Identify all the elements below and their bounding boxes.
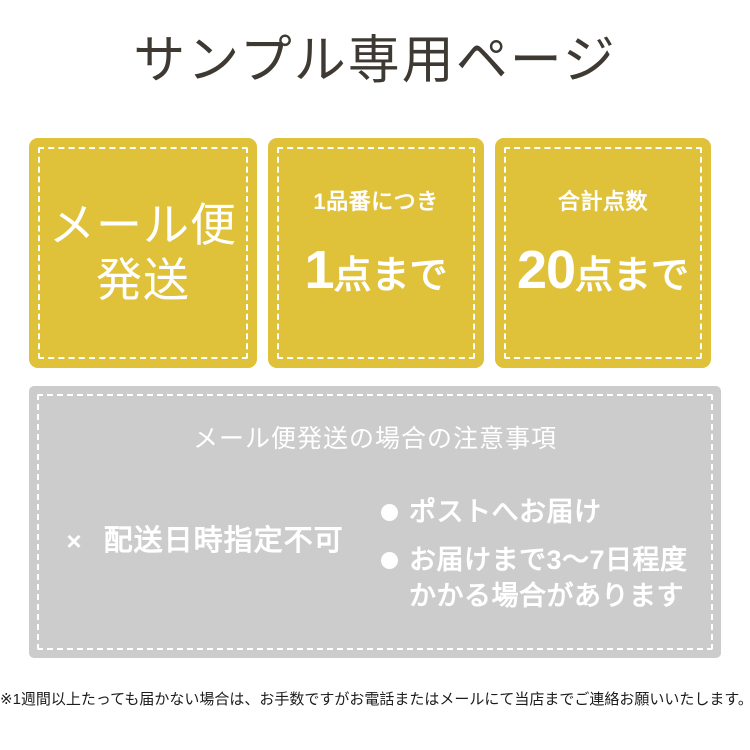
list-item: ポストへお届け [381, 494, 721, 530]
notice-panel: メール便発送の場合の注意事項 × 配送日時指定不可 ポストへお届け お届けまで3… [29, 386, 721, 658]
page-title: サンプル専用ページ [0, 30, 750, 92]
sample-info-page: サンプル専用ページ メール便 発送 1品番につき 1 点まで 合計点数 20 点… [0, 0, 750, 750]
card-mail-shipping-line2: 発送 [49, 253, 237, 308]
notice-bullet-list: ポストへお届け お届けまで3〜7日程度 かかる場合があります [381, 486, 721, 614]
notice-bullet-1-text: ポストへお届け [409, 494, 602, 530]
card-per-item-heading: 1品番につき [313, 189, 438, 215]
card-total-heading: 合計点数 [558, 189, 648, 215]
footnote: ※1週間以上たっても届かない場合は、お手数ですがお電話またはメールにて当店までご… [0, 690, 750, 710]
card-mail-shipping: メール便 発送 [29, 138, 257, 368]
notice-bullet-2-line1: お届けまで3〜7日程度 [409, 545, 688, 575]
card-mail-shipping-text: メール便 発送 [49, 198, 237, 308]
notice-bullet-1-line1: ポストへお届け [409, 497, 602, 527]
card-total-number: 20 [517, 243, 575, 297]
list-item: お届けまで3〜7日程度 かかる場合があります [381, 542, 721, 614]
card-per-item-value: 1 点まで [304, 243, 447, 303]
cross-icon: × [66, 526, 82, 556]
info-card-row: メール便 発送 1品番につき 1 点まで 合計点数 20 点まで [29, 138, 721, 368]
notice-bullet-2-line2: かかる場合があります [409, 578, 688, 614]
card-mail-shipping-line1: メール便 [49, 199, 237, 251]
card-total-value: 20 点まで [517, 243, 689, 303]
notice-no-date-designation-label: 配送日時指定不可 [104, 525, 344, 557]
bullet-dot-icon [381, 504, 398, 521]
card-per-item-limit: 1品番につき 1 点まで [268, 138, 484, 368]
notice-title: メール便発送の場合の注意事項 [29, 424, 721, 454]
card-per-item-number: 1 [304, 243, 333, 297]
notice-bullet-2-text: お届けまで3〜7日程度 かかる場合があります [409, 542, 688, 614]
notice-no-date-designation: × 配送日時指定不可 [29, 486, 381, 558]
bullet-dot-icon [381, 552, 398, 569]
notice-body: × 配送日時指定不可 ポストへお届け お届けまで3〜7日程度 かかる場合がありま… [29, 486, 721, 646]
card-total-limit: 合計点数 20 点まで [495, 138, 711, 368]
card-total-unit: 点まで [575, 249, 689, 303]
card-per-item-unit: 点まで [334, 249, 448, 303]
